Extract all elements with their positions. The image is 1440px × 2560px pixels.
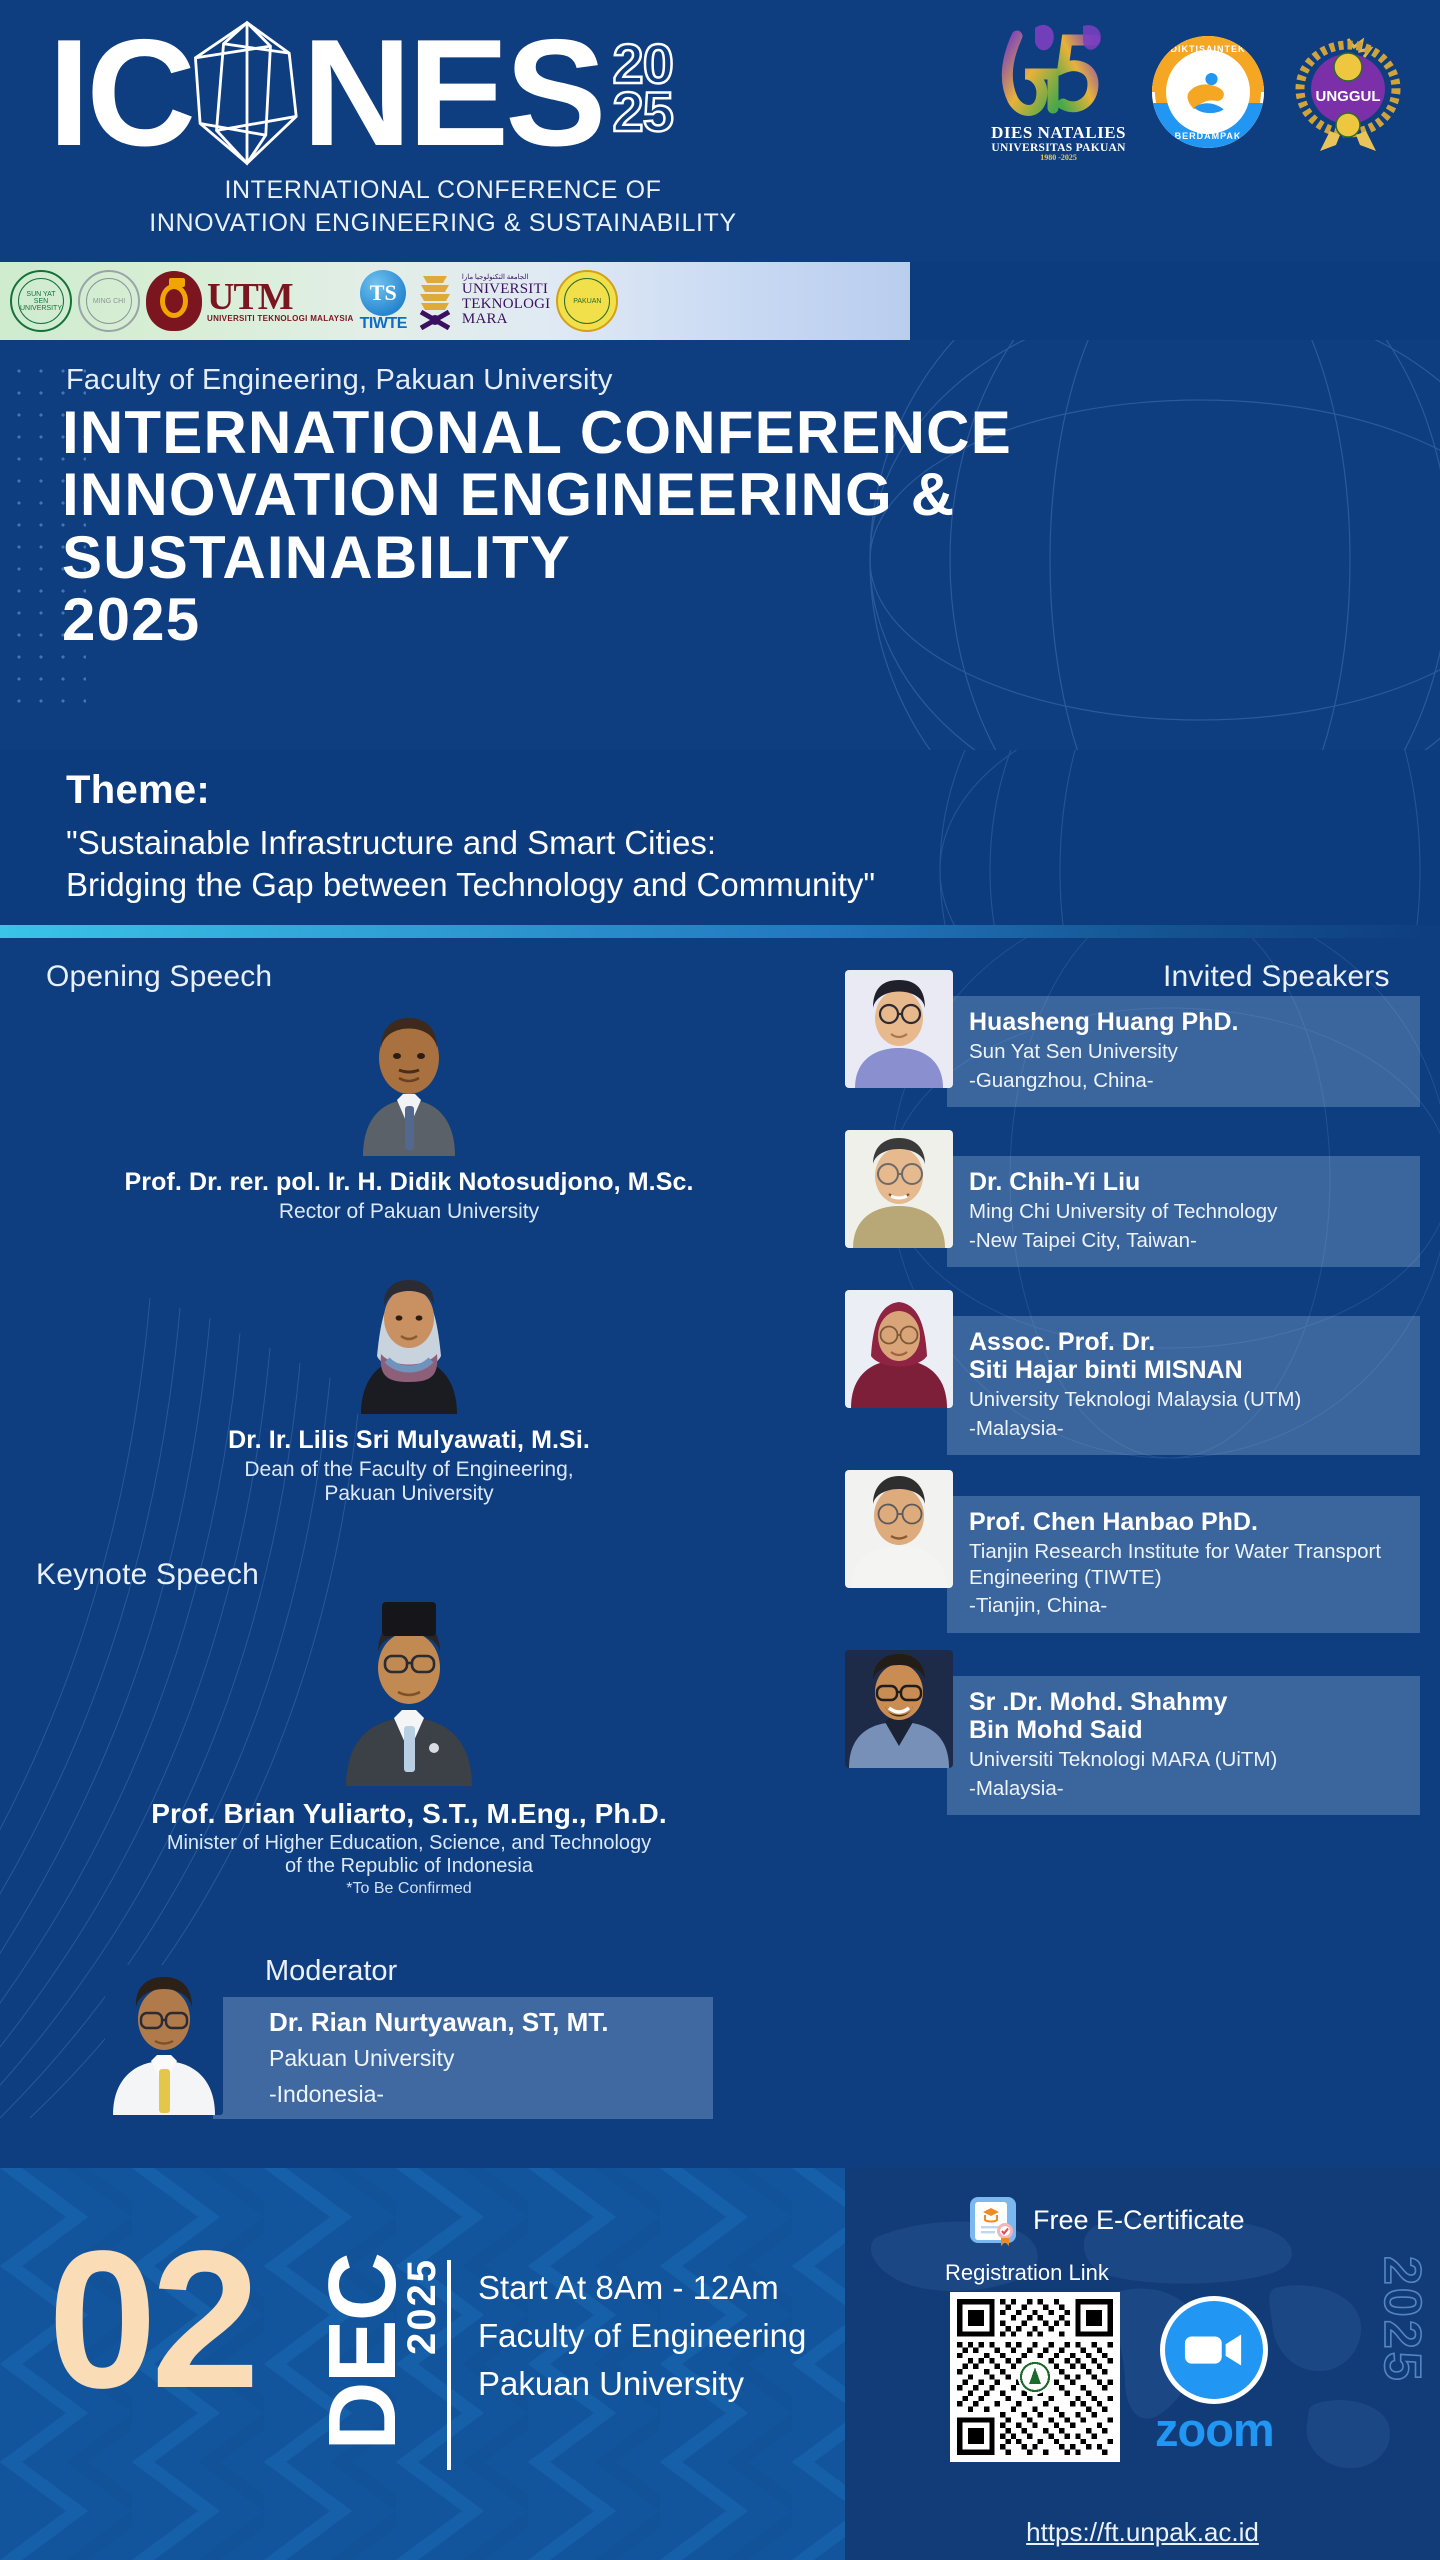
certificate-row: Free E-Certificate: [967, 2194, 1245, 2246]
speaker-org: Sun Yat Sen University: [969, 1039, 1406, 1065]
icones-wordmark: IC: [48, 18, 603, 168]
uitm-line3: MARA: [462, 312, 550, 327]
tiwte-mark-icon: TS: [360, 270, 406, 316]
registration-qr-code[interactable]: [950, 2292, 1120, 2462]
venue-line-2: Faculty of Engineering: [478, 2312, 806, 2360]
speaker-location: -Malaysia-: [969, 1416, 1406, 1442]
avatar: [105, 1965, 223, 2115]
moderator-country: -Indonesia-: [269, 2080, 713, 2110]
dies-line1: DIES NATALIES: [991, 124, 1126, 142]
theme-line-2: Bridging the Gap between Technology and …: [66, 864, 875, 906]
uitm-line1: UNIVERSITI: [462, 282, 550, 297]
avatar: [330, 1598, 488, 1786]
theme-text: "Sustainable Infrastructure and Smart Ci…: [66, 822, 875, 906]
faculty-eyebrow: Faculty of Engineering, Pakuan Universit…: [66, 364, 613, 397]
speaker-role-line2: of the Republic of Indonesia: [0, 1855, 818, 1878]
theme-arc-decoration: [920, 750, 1440, 930]
speaker-name: Prof. Dr. rer. pol. Ir. H. Didik Notosud…: [0, 1168, 818, 1197]
dies-natalies-crest: DIES NATALIES UNIVERSITAS PAKUAN 1980 -2…: [991, 22, 1126, 162]
vertical-divider: [447, 2260, 451, 2470]
qr-code-pattern: [957, 2299, 1113, 2455]
partner-logo-ming-chi: MING CHI: [78, 268, 140, 334]
title-line-2: INNOVATION ENGINEERING &: [62, 464, 1402, 526]
uitm-mark-icon: [413, 272, 457, 330]
website-url[interactable]: https://ft.unpak.ac.id: [845, 2517, 1440, 2548]
header-crests: DIES NATALIES UNIVERSITAS PAKUAN 1980 -2…: [991, 22, 1406, 162]
event-year: 2025: [400, 2258, 445, 2355]
speaker-role-line2: Pakuan University: [0, 1482, 818, 1506]
section-divider: [0, 925, 1440, 938]
venue-line-3: Pakuan University: [478, 2360, 806, 2408]
speaker-role-line1: Dean of the Faculty of Engineering,: [0, 1458, 818, 1482]
utm-seal-icon: [146, 271, 202, 331]
speaker-info-card: Dr. Chih-Yi Liu Ming Chi University of T…: [947, 1156, 1420, 1267]
unggul-crest: UNGGUL: [1290, 33, 1406, 151]
speaker-org: Universiti Teknologi MARA (UiTM): [969, 1747, 1406, 1773]
speaker-name-line2: Bin Mohd Said: [969, 1716, 1406, 1744]
logo-word-right: NES: [302, 21, 603, 165]
to-be-confirmed-note: *To Be Confirmed: [0, 1880, 818, 1898]
poster-header: IC: [0, 0, 1440, 262]
event-venue: Start At 8Am - 12Am Faculty of Engineeri…: [478, 2264, 806, 2408]
title-line-1: INTERNATIONAL CONFERENCE: [62, 402, 1402, 464]
partner-logo-tiwte: TS TIWTE: [360, 268, 407, 334]
unggul-award-icon: UNGGUL: [1290, 33, 1406, 151]
partner-logo-pakuan: PAKUAN: [556, 268, 618, 334]
moderator-org: Pakuan University: [269, 2044, 713, 2074]
speaker-name: Prof. Chen Hanbao PhD.: [969, 1508, 1406, 1536]
logo-year: 20 25: [613, 40, 673, 136]
logo-year-bottom: 25: [613, 88, 673, 136]
registration-label: Registration Link: [945, 2260, 1109, 2286]
avatar: [845, 970, 953, 1088]
opening-speaker-rector: Prof. Dr. rer. pol. Ir. H. Didik Notosud…: [0, 996, 818, 1224]
avatar: [347, 1256, 471, 1414]
certificate-icon: [967, 2194, 1019, 2246]
avatar: [845, 1650, 953, 1768]
invited-speaker-card-5: Sr .Dr. Mohd. Shahmy Bin Mohd Said Unive…: [845, 1650, 1420, 1815]
logo-word-left: IC: [48, 21, 192, 165]
speaker-location: -Malaysia-: [969, 1776, 1406, 1802]
title-section: Faculty of Engineering, Pakuan Universit…: [0, 340, 1440, 750]
conference-poster: IC: [0, 0, 1440, 2560]
speaker-name: Dr. Ir. Lilis Sri Mulyawati, M.Si.: [0, 1426, 818, 1455]
invited-speaker-card-1: Huasheng Huang PhD. Sun Yat Sen Universi…: [845, 970, 1420, 1107]
speaker-info-card: Prof. Chen Hanbao PhD. Tianjin Research …: [947, 1496, 1420, 1633]
tiwte-abbr: TIWTE: [360, 316, 407, 332]
speaker-name: Dr. Chih-Yi Liu: [969, 1168, 1406, 1196]
moderator-card: Dr. Rian Nurtyawan, ST, MT. Pakuan Unive…: [213, 1997, 713, 2119]
speaker-role-line1: Minister of Higher Education, Science, a…: [0, 1832, 818, 1855]
partner-abbr-pakuan: PAKUAN: [564, 278, 610, 324]
speaker-info-card: Assoc. Prof. Dr. Siti Hajar binti MISNAN…: [947, 1316, 1420, 1455]
theme-line-1: "Sustainable Infrastructure and Smart Ci…: [66, 822, 875, 864]
diktisaintek-bottom-text: BERDAMPAK: [1152, 131, 1264, 141]
opening-speech-label: Opening Speech: [46, 960, 272, 994]
human-figure-icon: [1182, 66, 1234, 118]
event-date-block: 02 DEC 2025 Start At 8Am - 12Am Faculty …: [0, 2168, 845, 2560]
avatar: [845, 1290, 953, 1408]
dies-natalies-caption: DIES NATALIES UNIVERSITAS PAKUAN 1980 -2…: [991, 124, 1126, 162]
speaker-role: Rector of Pakuan University: [0, 1200, 818, 1224]
invited-speaker-card-3: Assoc. Prof. Dr. Siti Hajar binti MISNAN…: [845, 1290, 1420, 1455]
partner-logo-utm: UTM UNIVERSITI TEKNOLOGI MALAYSIA: [146, 268, 354, 334]
venue-line-1: Start At 8Am - 12Am: [478, 2264, 806, 2312]
anniversary-45-icon: [991, 22, 1121, 122]
opening-speaker-dean: Dr. Ir. Lilis Sri Mulyawati, M.Si. Dean …: [0, 1256, 818, 1506]
speaker-name-line1: Assoc. Prof. Dr.: [969, 1328, 1406, 1356]
speaker-org: University Teknologi Malaysia (UTM): [969, 1387, 1406, 1413]
side-year-decoration: 2025: [1372, 2256, 1432, 2384]
logo-subtitle-line2: INNOVATION ENGINEERING & SUSTAINABILITY: [48, 207, 838, 240]
certificate-text: Free E-Certificate: [1033, 2205, 1245, 2236]
uitm-line2: TEKNOLOGI: [462, 297, 550, 312]
poster-footer: 02 DEC 2025 Start At 8Am - 12Am Faculty …: [0, 2168, 1440, 2560]
partner-abbr-sysu: SUN YAT SEN UNIVERSITY: [18, 278, 64, 324]
speaker-org: Ming Chi University of Technology: [969, 1199, 1406, 1225]
video-camera-icon: [1160, 2296, 1268, 2404]
dies-line3: 1980 -2025: [991, 154, 1126, 162]
zoom-logo: zoom: [1155, 2296, 1274, 2453]
utm-fullname: UNIVERSITI TEKNOLOGI MALAYSIA: [207, 315, 354, 323]
speaker-location: -Tianjin, China-: [969, 1593, 1406, 1619]
logo-subtitle-line1: INTERNATIONAL CONFERENCE OF: [48, 174, 838, 207]
speaker-info-card: Huasheng Huang PhD. Sun Yat Sen Universi…: [947, 996, 1420, 1107]
partner-logos-strip: SUN YAT SEN UNIVERSITY MING CHI UTM UNIV…: [0, 262, 910, 340]
speaker-name-line1: Sr .Dr. Mohd. Shahmy: [969, 1688, 1406, 1716]
event-month: DEC: [320, 2254, 406, 2451]
logo-subtitle: INTERNATIONAL CONFERENCE OF INNOVATION E…: [48, 174, 838, 239]
partner-abbr-mcut: MING CHI: [86, 278, 132, 324]
theme-section: Theme: "Sustainable Infrastructure and S…: [0, 750, 1440, 930]
utm-abbr: UTM: [207, 279, 354, 315]
diktisaintek-top-text: DIKTISAINTEK: [1152, 44, 1264, 54]
moderator-block: Moderator Dr. Rian Nurtyawan, ST, MT. Pa…: [105, 1955, 725, 2125]
speaker-name: Prof. Brian Yuliarto, S.T., M.Eng., Ph.D…: [0, 1798, 818, 1830]
zoom-wordmark: zoom: [1155, 2406, 1274, 2453]
avatar: [845, 1470, 953, 1588]
speaker-info-card: Sr .Dr. Mohd. Shahmy Bin Mohd Said Unive…: [947, 1676, 1420, 1815]
avatar: [845, 1130, 953, 1248]
event-day: 02: [48, 2240, 254, 2401]
title-line-3: SUSTAINABILITY: [62, 527, 1402, 589]
speaker-org: Tianjin Research Institute for Water Tra…: [969, 1539, 1406, 1590]
icones-logo: IC: [48, 18, 888, 239]
avatar: [345, 996, 473, 1156]
speaker-name: Huasheng Huang PhD.: [969, 1008, 1406, 1036]
keynote-speaker: Prof. Brian Yuliarto, S.T., M.Eng., Ph.D…: [0, 1598, 818, 1898]
diktisaintek-badge-icon: DIKTISAINTEK BERDAMPAK: [1152, 36, 1264, 148]
registration-block: Free E-Certificate Registration Link: [845, 2168, 1440, 2560]
polyhedron-icon: [188, 18, 306, 168]
invited-speaker-card-2: Dr. Chih-Yi Liu Ming Chi University of T…: [845, 1130, 1420, 1267]
invited-speaker-card-4: Prof. Chen Hanbao PhD. Tianjin Research …: [845, 1470, 1420, 1633]
keynote-speech-label: Keynote Speech: [36, 1558, 259, 1592]
title-line-4: 2025: [62, 589, 1402, 651]
speaker-location: -New Taipei City, Taiwan-: [969, 1228, 1406, 1254]
moderator-name: Dr. Rian Nurtyawan, ST, MT.: [269, 2007, 713, 2038]
speaker-name-line2: Siti Hajar binti MISNAN: [969, 1356, 1406, 1384]
speaker-location: -Guangzhou, China-: [969, 1068, 1406, 1094]
theme-label: Theme:: [66, 768, 210, 813]
page-title: INTERNATIONAL CONFERENCE INNOVATION ENGI…: [62, 402, 1402, 652]
partner-logo-uitm: الجامعة التكنولوجيا مارا UNIVERSITI TEKN…: [413, 268, 550, 334]
moderator-label: Moderator: [265, 1955, 397, 1988]
diktisaintek-crest: DIKTISAINTEK BERDAMPAK: [1152, 36, 1264, 148]
partner-logo-sun-yat-sen: SUN YAT SEN UNIVERSITY: [10, 268, 72, 334]
svg-text:UNGGUL: UNGGUL: [1316, 88, 1381, 105]
